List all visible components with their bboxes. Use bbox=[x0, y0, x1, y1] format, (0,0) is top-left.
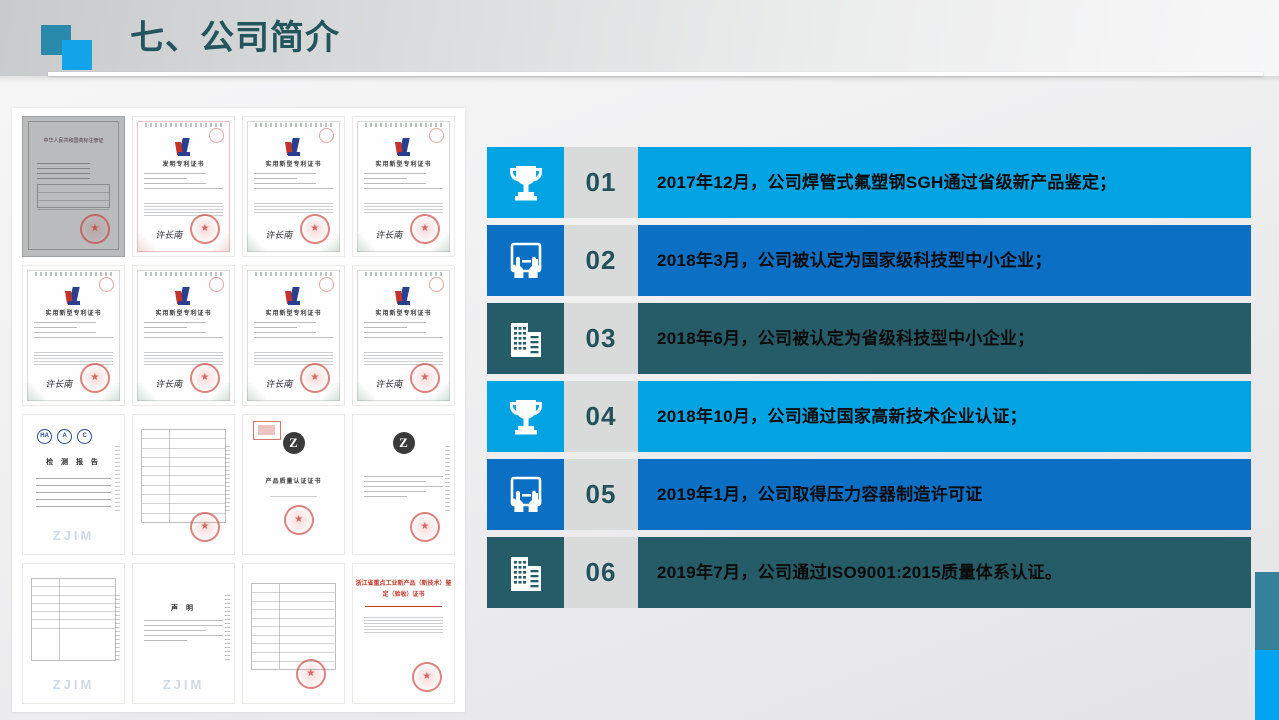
item-number: 03 bbox=[586, 323, 617, 354]
item-number-box: 05 bbox=[564, 459, 638, 530]
item-number: 02 bbox=[586, 245, 617, 276]
patent-emblem-icon bbox=[286, 138, 302, 158]
certificate-title: 实用新型专利证书 bbox=[243, 308, 344, 317]
item-number: 06 bbox=[586, 557, 617, 588]
certificate-title: 实用新型专利证书 bbox=[353, 308, 454, 317]
certificate-title: 中华人民共和国商标注册证 bbox=[23, 138, 124, 145]
item-text-box: 2019年1月，公司取得压力容器制造许可证 bbox=[638, 459, 1251, 530]
item-text: 2017年12月，公司焊管式氟塑钢SGH通过省级新产品鉴定； bbox=[657, 172, 1117, 194]
edge-accent-cyan bbox=[1255, 650, 1279, 720]
red-seal-icon bbox=[80, 214, 110, 244]
certificate-thumbnail[interactable]: 实用新型专利证书 许长南 bbox=[352, 116, 455, 257]
item-text-box: 2017年12月，公司焊管式氟塑钢SGH通过省级新产品鉴定； bbox=[638, 147, 1251, 218]
list-item[interactable]: 05 2019年1月，公司取得压力容器制造许可证 bbox=[487, 459, 1251, 530]
red-seal-icon bbox=[410, 512, 440, 542]
page-title: 七、公司简介 bbox=[130, 14, 340, 62]
item-text: 2019年1月，公司取得压力容器制造许可证 bbox=[657, 484, 983, 506]
item-number-box: 01 bbox=[564, 147, 638, 218]
certificate-title: 实用新型专利证书 bbox=[353, 159, 454, 168]
certificate-thumbnail[interactable]: 实用新型专利证书 许长南 bbox=[22, 265, 125, 406]
edge-accent-teal bbox=[1255, 572, 1279, 650]
watermark: ZJIM bbox=[23, 677, 124, 692]
slide-root: 七、公司简介 中华人民共和国商标注册证 发明专利证书 许长南 bbox=[0, 0, 1279, 720]
red-seal-icon bbox=[190, 512, 220, 542]
certificate-title: 检 测 报 告 bbox=[23, 457, 124, 467]
certificates-grid: 中华人民共和国商标注册证 发明专利证书 许长南 实用新型专利证书 bbox=[22, 116, 455, 704]
patent-emblem-icon bbox=[396, 138, 412, 158]
certificate-title: 实用新型专利证书 bbox=[133, 308, 234, 317]
item-number-box: 04 bbox=[564, 381, 638, 452]
item-text-box: 2019年7月，公司通过ISO9001:2015质量体系认证。 bbox=[638, 537, 1251, 608]
item-text: 2019年7月，公司通过ISO9001:2015质量体系认证。 bbox=[657, 562, 1062, 584]
trophy-icon bbox=[487, 147, 564, 218]
list-item[interactable]: 06 2019年7月，公司通过ISO9001:2015质量体系认证。 bbox=[487, 537, 1251, 608]
item-number: 05 bbox=[586, 479, 617, 510]
certificate-thumbnail[interactable]: HAAC 检 测 报 告 ZJIM bbox=[22, 414, 125, 555]
list-item[interactable]: 03 2018年6月，公司被认定为省级科技型中小企业； bbox=[487, 303, 1251, 374]
certificate-title: 实用新型专利证书 bbox=[23, 308, 124, 317]
certificate-title: 浙江省重点工业新产品（新技术）鉴定（验收）证书 bbox=[353, 579, 454, 601]
certificate-thumbnail[interactable]: 实用新型专利证书 许长南 bbox=[242, 265, 345, 406]
certificate-thumbnail[interactable]: 实用新型专利证书 许长南 bbox=[242, 116, 345, 257]
red-seal-icon bbox=[284, 505, 314, 535]
certificate-thumbnail[interactable]: 发明专利证书 许长南 bbox=[132, 116, 235, 257]
building-icon bbox=[487, 537, 564, 608]
item-number: 04 bbox=[586, 401, 617, 432]
trophy-icon bbox=[487, 381, 564, 452]
certificate-thumbnail[interactable]: 中华人民共和国商标注册证 bbox=[22, 116, 125, 257]
slide-header: 七、公司简介 bbox=[0, 0, 1279, 76]
z-mark-icon: Z bbox=[283, 432, 305, 454]
certificate-thumbnail[interactable]: 浙江省重点工业新产品（新技术）鉴定（验收）证书 bbox=[352, 563, 455, 704]
item-number-box: 02 bbox=[564, 225, 638, 296]
list-item[interactable]: 04 2018年10月，公司通过国家高新技术企业认证； bbox=[487, 381, 1251, 452]
item-number-box: 03 bbox=[564, 303, 638, 374]
certificate-thumbnail[interactable]: 声 明 ZJIM bbox=[132, 563, 235, 704]
milestones-list: 01 2017年12月，公司焊管式氟塑钢SGH通过省级新产品鉴定； 02 201… bbox=[487, 147, 1251, 615]
tablet-hands-icon bbox=[487, 459, 564, 530]
certificate-thumbnail[interactable] bbox=[242, 563, 345, 704]
item-text-box: 2018年3月，公司被认定为国家级科技型中小企业； bbox=[638, 225, 1251, 296]
red-stamp-icon bbox=[253, 421, 281, 440]
certificate-title: 声 明 bbox=[133, 603, 234, 613]
header-square-light-icon bbox=[62, 40, 92, 70]
watermark: ZJIM bbox=[23, 528, 124, 543]
certificate-thumbnail[interactable]: 实用新型专利证书 许长南 bbox=[352, 265, 455, 406]
certificate-thumbnail[interactable]: ZJIM bbox=[22, 563, 125, 704]
patent-emblem-icon bbox=[176, 287, 192, 307]
certificate-thumbnail[interactable]: Z 产品质量认证证书 bbox=[242, 414, 345, 555]
building-icon bbox=[487, 303, 564, 374]
certificate-thumbnail[interactable]: 实用新型专利证书 许长南 bbox=[132, 265, 235, 406]
accreditation-logos-icon: HAAC bbox=[37, 429, 92, 444]
item-text: 2018年10月，公司通过国家高新技术企业认证； bbox=[657, 406, 1027, 428]
certificates-gallery: 中华人民共和国商标注册证 发明专利证书 许长南 实用新型专利证书 bbox=[12, 108, 465, 712]
tablet-hands-icon bbox=[487, 225, 564, 296]
certificate-thumbnail[interactable] bbox=[132, 414, 235, 555]
certificate-title: 发明专利证书 bbox=[133, 159, 234, 168]
list-item[interactable]: 02 2018年3月，公司被认定为国家级科技型中小企业； bbox=[487, 225, 1251, 296]
patent-emblem-icon bbox=[176, 138, 192, 158]
certificate-title: 实用新型专利证书 bbox=[243, 159, 344, 168]
item-number: 01 bbox=[586, 167, 617, 198]
patent-emblem-icon bbox=[66, 287, 82, 307]
red-seal-icon bbox=[412, 662, 442, 692]
z-mark-icon: Z bbox=[393, 432, 415, 454]
item-number-box: 06 bbox=[564, 537, 638, 608]
certificate-thumbnail[interactable]: Z bbox=[352, 414, 455, 555]
item-text-box: 2018年6月，公司被认定为省级科技型中小企业； bbox=[638, 303, 1251, 374]
watermark: ZJIM bbox=[133, 677, 234, 692]
item-text: 2018年3月，公司被认定为国家级科技型中小企业； bbox=[657, 250, 1052, 272]
patent-emblem-icon bbox=[396, 287, 412, 307]
header-shadow bbox=[0, 76, 1279, 83]
item-text: 2018年6月，公司被认定为省级科技型中小企业； bbox=[657, 328, 1034, 350]
list-item[interactable]: 01 2017年12月，公司焊管式氟塑钢SGH通过省级新产品鉴定； bbox=[487, 147, 1251, 218]
item-text-box: 2018年10月，公司通过国家高新技术企业认证； bbox=[638, 381, 1251, 452]
patent-emblem-icon bbox=[286, 287, 302, 307]
certificate-title: 产品质量认证证书 bbox=[243, 476, 344, 485]
red-seal-icon bbox=[296, 659, 326, 689]
